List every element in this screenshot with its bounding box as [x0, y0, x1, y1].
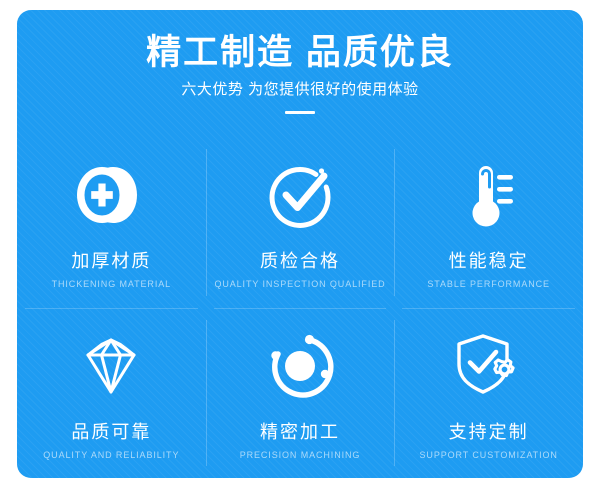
promo-banner: 精工制造 品质优良 六大优势 为您提供很好的使用体验 加厚材质 THICKENI… [17, 10, 583, 478]
stacked-coins-plus-icon [69, 153, 153, 237]
feature-label-cn: 质检合格 [260, 249, 340, 273]
feature-grid: 加厚材质 THICKENING MATERIAL 质检合格 QUALITY IN… [17, 137, 583, 478]
feature-label-en: THICKENING MATERIAL [52, 277, 171, 291]
feature-label-en: QUALITY INSPECTION QUALIFIED [214, 277, 385, 291]
feature-label-en: SUPPORT CUSTOMIZATION [420, 448, 558, 462]
diamond-icon [69, 324, 153, 408]
feature-label-en: PRECISION MACHINING [240, 448, 361, 462]
feature-label-en: STABLE PERFORMANCE [427, 277, 550, 291]
feature-cell-quality-inspection: 质检合格 QUALITY INSPECTION QUALIFIED [206, 137, 395, 308]
feature-label-cn: 精密加工 [260, 420, 340, 444]
banner-header: 精工制造 品质优良 六大优势 为您提供很好的使用体验 [17, 10, 583, 114]
feature-cell-stable-performance: 性能稳定 STABLE PERFORMANCE [394, 137, 583, 308]
shield-check-gear-icon [447, 324, 531, 408]
title-underline-dash [285, 111, 315, 114]
feature-cell-support-customization: 支持定制 SUPPORT CUSTOMIZATION [394, 308, 583, 479]
feature-cell-precision-machining: 精密加工 PRECISION MACHINING [206, 308, 395, 479]
thermometer-icon [447, 153, 531, 237]
banner-title: 精工制造 品质优良 [17, 31, 583, 75]
feature-label-cn: 加厚材质 [71, 249, 151, 273]
feature-label-cn: 品质可靠 [71, 420, 151, 444]
feature-cell-thickening-material: 加厚材质 THICKENING MATERIAL [17, 137, 206, 308]
check-circle-icon [258, 153, 342, 237]
banner-subtitle: 六大优势 为您提供很好的使用体验 [17, 80, 583, 100]
feature-label-cn: 性能稳定 [449, 249, 529, 273]
orbit-target-icon [258, 324, 342, 408]
feature-label-cn: 支持定制 [449, 420, 529, 444]
feature-cell-quality-reliability: 品质可靠 QUALITY AND RELIABILITY [17, 308, 206, 479]
feature-label-en: QUALITY AND RELIABILITY [43, 448, 179, 462]
